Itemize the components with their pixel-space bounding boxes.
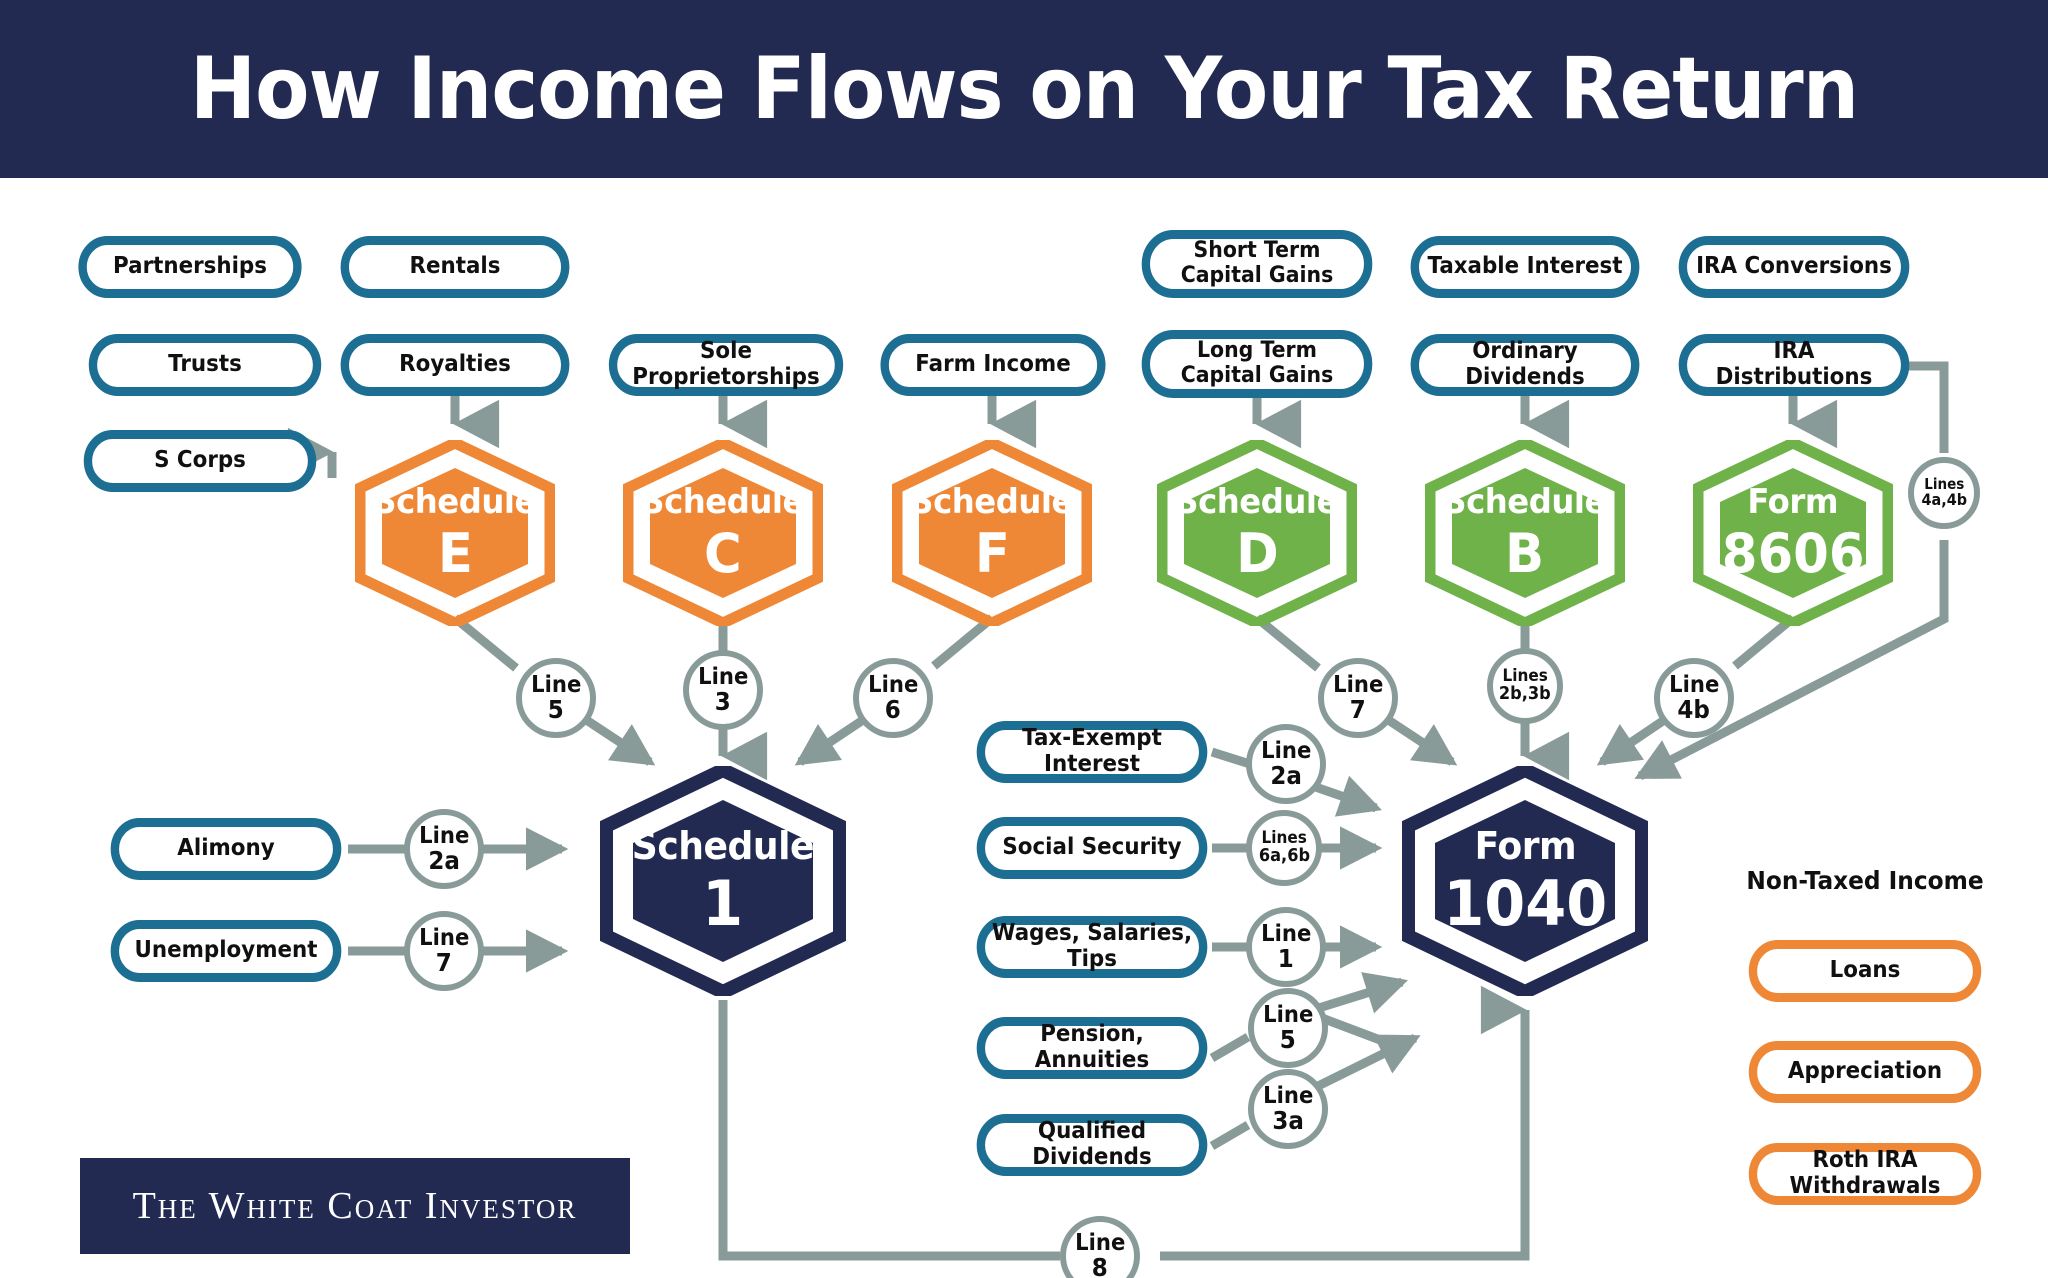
source-pill-sole-proprietorships[interactable]: Sole Proprietorships xyxy=(609,334,843,396)
brand-logo: The White Coat Investor xyxy=(80,1158,630,1254)
pill-label: Short Term Capital Gains xyxy=(1181,239,1334,288)
hex-fill xyxy=(919,468,1065,598)
badge-social-security-lines: Lines 6a,6b xyxy=(1246,810,1322,886)
nontaxed-income-heading: Non-Taxed Income xyxy=(1744,866,1986,895)
nontaxed-pill-roth-ira-withdrawals[interactable]: Roth IRA Withdrawals xyxy=(1749,1143,1982,1205)
hex-fill xyxy=(1435,800,1615,962)
input-pill-social-security[interactable]: Social Security xyxy=(977,817,1208,879)
badge-qualified-dividends-line: Line 3a xyxy=(1248,1069,1328,1149)
badge-alimony-line: Line 2a xyxy=(404,809,484,889)
pill-label: Ordinary Dividends xyxy=(1425,339,1626,391)
connector-layer xyxy=(0,0,2048,1278)
pill-label: Tax-Exempt Interest xyxy=(991,726,1194,778)
brand-logo-text: The White Coat Investor xyxy=(133,1184,578,1228)
pill-label: Farm Income xyxy=(915,352,1070,378)
badge-schedule-c-line: Line 3 xyxy=(683,650,763,730)
hexagon-schedule-f[interactable]: Schedule F xyxy=(892,440,1092,626)
pill-label: IRA Distributions xyxy=(1693,339,1896,391)
source-pill-ira-distributions[interactable]: IRA Distributions xyxy=(1679,334,1910,396)
pill-label: Wages, Salaries, Tips xyxy=(991,921,1194,973)
pill-label: Loans xyxy=(1830,958,1901,984)
hexagon-form-8606[interactable]: Form 8606 xyxy=(1693,440,1893,626)
badge-tax-exempt-line: Line 2a xyxy=(1246,724,1326,804)
wire-qualdiv-pre xyxy=(1212,1125,1248,1146)
hexagon-schedule-1[interactable]: Schedule 1 xyxy=(600,766,846,996)
wire-pension-pre xyxy=(1212,1037,1248,1058)
input-pill-wages-salaries-tips[interactable]: Wages, Salaries, Tips xyxy=(977,916,1208,978)
pill-label: S Corps xyxy=(154,448,246,474)
pill-label: Unemployment xyxy=(135,938,318,964)
input-pill-unemployment[interactable]: Unemployment xyxy=(111,920,342,982)
input-pill-tax-exempt-interest[interactable]: Tax-Exempt Interest xyxy=(977,721,1208,783)
pill-label: Partnerships xyxy=(113,254,267,280)
source-pill-partnerships[interactable]: Partnerships xyxy=(78,236,301,298)
badge-ira-dist-lines-4a4b: Lines 4a,4b xyxy=(1908,457,1980,529)
badge-schedule-f-line: Line 6 xyxy=(853,658,933,738)
input-pill-qualified-dividends[interactable]: Qualified Dividends xyxy=(977,1114,1208,1176)
pill-label: Alimony xyxy=(177,836,274,862)
input-pill-pension-annuities[interactable]: Pension, Annuities xyxy=(977,1017,1208,1079)
pill-label: Roth IRA Withdrawals xyxy=(1763,1148,1968,1200)
nontaxed-pill-appreciation[interactable]: Appreciation xyxy=(1749,1041,1982,1103)
pill-label: IRA Conversions xyxy=(1696,254,1892,280)
badge-unemployment-line: Line 7 xyxy=(404,911,484,991)
pill-label: Taxable Interest xyxy=(1427,254,1622,280)
pill-label: Royalties xyxy=(399,352,511,378)
input-pill-alimony[interactable]: Alimony xyxy=(111,818,342,880)
badge-schedule-e-line: Line 5 xyxy=(516,658,596,738)
hexagon-schedule-c[interactable]: Schedule C xyxy=(623,440,823,626)
pill-label: Long Term Capital Gains xyxy=(1181,339,1334,388)
hex-fill xyxy=(1184,468,1330,598)
hexagon-schedule-e[interactable]: Schedule E xyxy=(355,440,555,626)
badge-schedule1-to-1040-line8: Line 8 xyxy=(1060,1216,1140,1278)
pill-label: Qualified Dividends xyxy=(991,1119,1194,1171)
hex-fill xyxy=(650,468,796,598)
source-pill-short-term-capital-gains[interactable]: Short Term Capital Gains xyxy=(1142,230,1373,298)
pill-label: Pension, Annuities xyxy=(991,1022,1194,1074)
source-pill-farm-income[interactable]: Farm Income xyxy=(880,334,1105,396)
source-pill-trusts[interactable]: Trusts xyxy=(89,334,322,396)
pill-label: Sole Proprietorships xyxy=(623,339,829,391)
badge-pension-line: Line 5 xyxy=(1248,988,1328,1068)
badge-schedule-b-lines: Lines 2b,3b xyxy=(1487,648,1563,724)
source-pill-ordinary-dividends[interactable]: Ordinary Dividends xyxy=(1411,334,1640,396)
infographic-canvas: How Income Flows on Your Tax Return xyxy=(0,0,2048,1278)
hex-fill xyxy=(633,800,813,962)
hex-fill xyxy=(382,468,528,598)
source-pill-royalties[interactable]: Royalties xyxy=(341,334,570,396)
source-pill-s-corps[interactable]: S Corps xyxy=(84,430,317,492)
badge-form8606-line: Line 4b xyxy=(1654,658,1734,738)
pill-label: Trusts xyxy=(168,352,242,378)
wire-sched1-line8-right xyxy=(1160,1010,1525,1256)
page-title: How Income Flows on Your Tax Return xyxy=(82,0,1966,178)
badge-wages-line: Line 1 xyxy=(1246,907,1326,987)
hexagon-schedule-b[interactable]: Schedule B xyxy=(1425,440,1625,626)
pill-label: Social Security xyxy=(1002,835,1181,861)
nontaxed-pill-loans[interactable]: Loans xyxy=(1749,940,1982,1002)
source-pill-ira-conversions[interactable]: IRA Conversions xyxy=(1679,236,1910,298)
hex-fill xyxy=(1452,468,1598,598)
pill-label: Appreciation xyxy=(1788,1059,1942,1085)
badge-schedule-d-line: Line 7 xyxy=(1318,658,1398,738)
hexagon-form-1040[interactable]: Form 1040 xyxy=(1402,766,1648,996)
wire-taxexempt-pre xyxy=(1212,752,1250,764)
hex-fill xyxy=(1720,468,1866,598)
source-pill-rentals[interactable]: Rentals xyxy=(341,236,570,298)
source-pill-long-term-capital-gains[interactable]: Long Term Capital Gains xyxy=(1142,330,1373,398)
pill-label: Rentals xyxy=(410,254,501,280)
hexagon-schedule-d[interactable]: Schedule D xyxy=(1157,440,1357,626)
source-pill-taxable-interest[interactable]: Taxable Interest xyxy=(1411,236,1640,298)
